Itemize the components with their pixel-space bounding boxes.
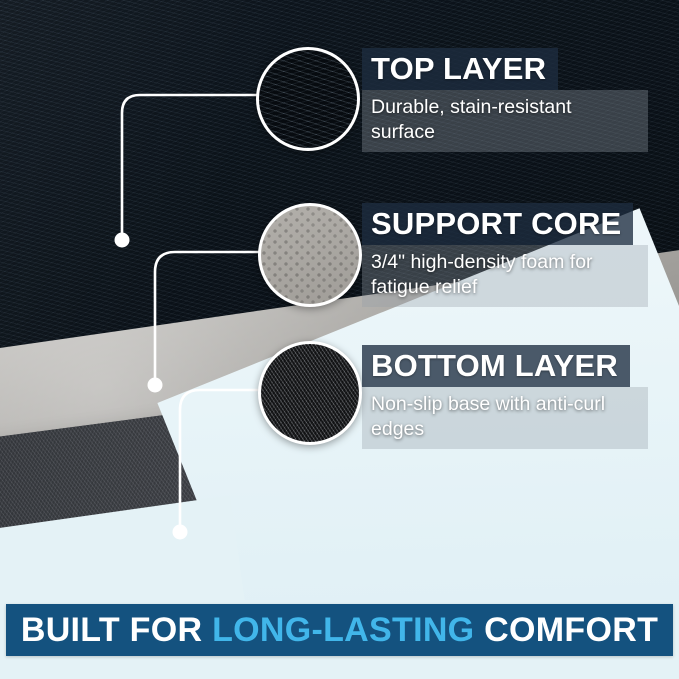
support-core-swatch	[258, 203, 362, 307]
callout-body-support-core: 3/4" high-density foam for fatigue relie…	[362, 245, 648, 307]
leader-line-bottom	[180, 390, 258, 525]
leader-dot-core	[148, 378, 163, 393]
bottom-banner: BUILT FOR LONG-LASTING COMFORT	[6, 604, 673, 656]
callout-heading-bottom-layer: BOTTOM LAYER	[362, 345, 630, 387]
leader-dot-top	[115, 233, 130, 248]
leader-line-top	[122, 95, 256, 233]
callout-heading-support-core: SUPPORT CORE	[362, 203, 633, 245]
bottom-layer-swatch	[258, 341, 362, 445]
top-layer-swatch	[256, 47, 360, 151]
banner-suffix: COMFORT	[474, 611, 658, 649]
callout-bottom-layer: BOTTOM LAYER Non-slip base with anti-cur…	[362, 345, 648, 449]
infographic-root: TOP LAYER Durable, stain-resistant surfa…	[0, 0, 679, 679]
banner-accent: LONG-LASTING	[212, 611, 474, 649]
callout-body-bottom-layer: Non-slip base with anti-curl edges	[362, 387, 648, 449]
callout-body-top-layer: Durable, stain-resistant surface	[362, 90, 648, 152]
callout-support-core: SUPPORT CORE 3/4" high-density foam for …	[362, 203, 648, 307]
banner-text: BUILT FOR LONG-LASTING COMFORT	[21, 611, 658, 650]
leader-line-core	[155, 252, 258, 378]
leader-dot-bottom	[173, 525, 188, 540]
callout-top-layer: TOP LAYER Durable, stain-resistant surfa…	[362, 48, 648, 152]
banner-prefix: BUILT FOR	[21, 611, 212, 649]
callout-heading-top-layer: TOP LAYER	[362, 48, 558, 90]
